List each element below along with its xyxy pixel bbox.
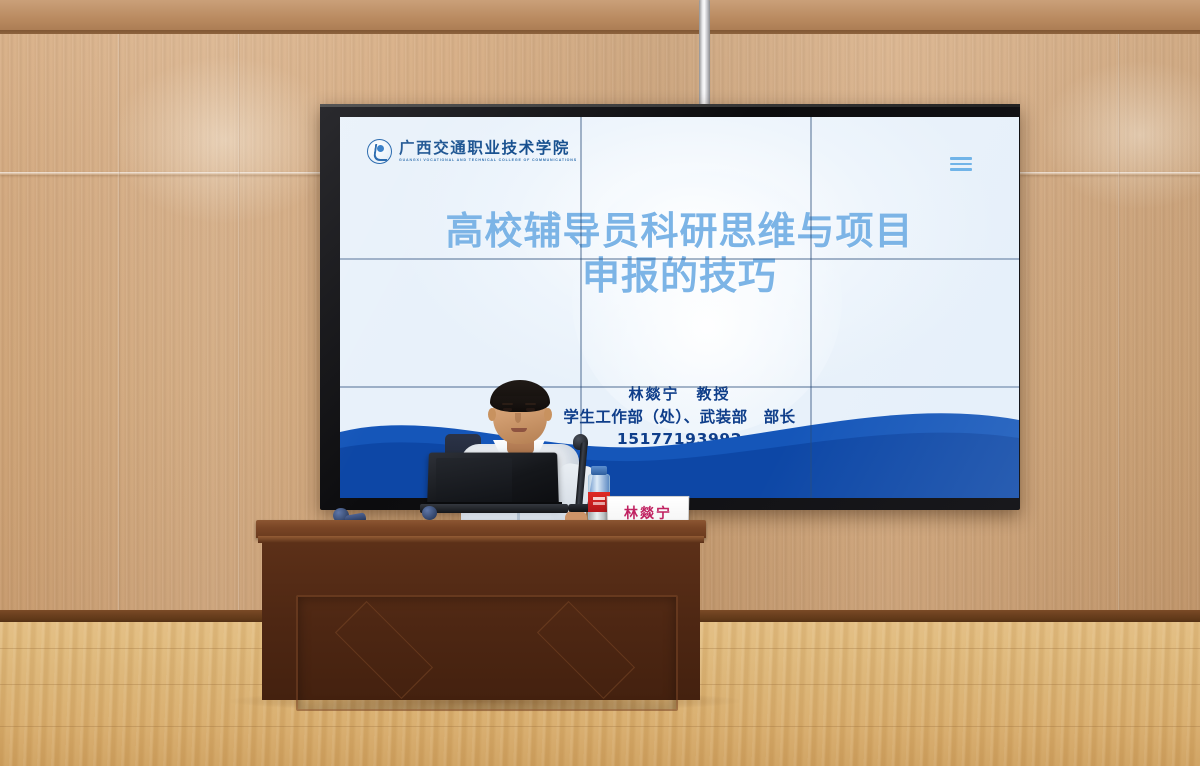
college-logo-text: 广西交通职业技术学院 GUANGXI VOCATIONAL AND TECHNI… — [399, 140, 577, 162]
speaker-ear-left — [488, 408, 496, 421]
slide-title-line-1: 高校辅导员科研思维与项目 — [356, 209, 1003, 254]
college-name-en: GUANGXI VOCATIONAL AND TECHNICAL COLLEGE… — [399, 159, 577, 163]
ceiling-mount-pole — [699, 0, 710, 112]
lecture-hall-scene: 广西交通职业技术学院 GUANGXI VOCATIONAL AND TECHNI… — [0, 0, 1200, 766]
wall-panel-seam-3 — [1118, 34, 1120, 610]
panel-seam-horizontal-2 — [340, 386, 1019, 388]
bezel-highlight — [320, 104, 1020, 107]
laptop-base[interactable] — [420, 504, 568, 513]
wall-panel-seam-2 — [238, 34, 240, 610]
ceiling-band — [0, 0, 1200, 34]
laptop-screen — [436, 458, 512, 506]
college-logo: 广西交通职业技术学院 GUANGXI VOCATIONAL AND TECHNI… — [367, 139, 577, 164]
speaker-eye-right — [526, 408, 535, 411]
slide-title: 高校辅导员科研思维与项目 申报的技巧 — [340, 209, 1019, 299]
panel-seam-vertical-2 — [810, 117, 812, 498]
panel-seam-horizontal-1 — [340, 258, 1019, 260]
desk-edge-lip — [258, 536, 704, 543]
speaker-hair — [490, 380, 550, 412]
menu-line-3 — [950, 168, 972, 171]
desk-front-panel — [262, 543, 700, 700]
speaker-ear-right — [544, 408, 552, 421]
led-video-wall[interactable]: 广西交通职业技术学院 GUANGXI VOCATIONAL AND TECHNI… — [320, 104, 1020, 510]
slide-title-line-2: 申报的技巧 — [356, 254, 1003, 299]
presentation-slide: 广西交通职业技术学院 GUANGXI VOCATIONAL AND TECHNI… — [340, 117, 1019, 498]
hamburger-menu-icon[interactable] — [950, 157, 972, 171]
speaker-eye-left — [503, 408, 512, 411]
wooden-lectern-desk — [256, 520, 706, 700]
wall-trim-line-left — [0, 172, 322, 175]
menu-line-2 — [950, 163, 972, 166]
wall-trim-line-right — [1020, 172, 1200, 175]
water-bottle-cap — [591, 466, 607, 475]
floor-plank-line — [0, 726, 1200, 727]
college-emblem-icon — [367, 139, 392, 164]
menu-line-1 — [950, 157, 972, 160]
speaker-nose — [515, 413, 521, 423]
speaker-mouth — [511, 428, 527, 432]
video-wall-screen[interactable]: 广西交通职业技术学院 GUANGXI VOCATIONAL AND TECHNI… — [340, 117, 1019, 498]
college-name-cn: 广西交通职业技术学院 — [399, 140, 577, 156]
wall-panel-seam-1 — [118, 34, 120, 610]
